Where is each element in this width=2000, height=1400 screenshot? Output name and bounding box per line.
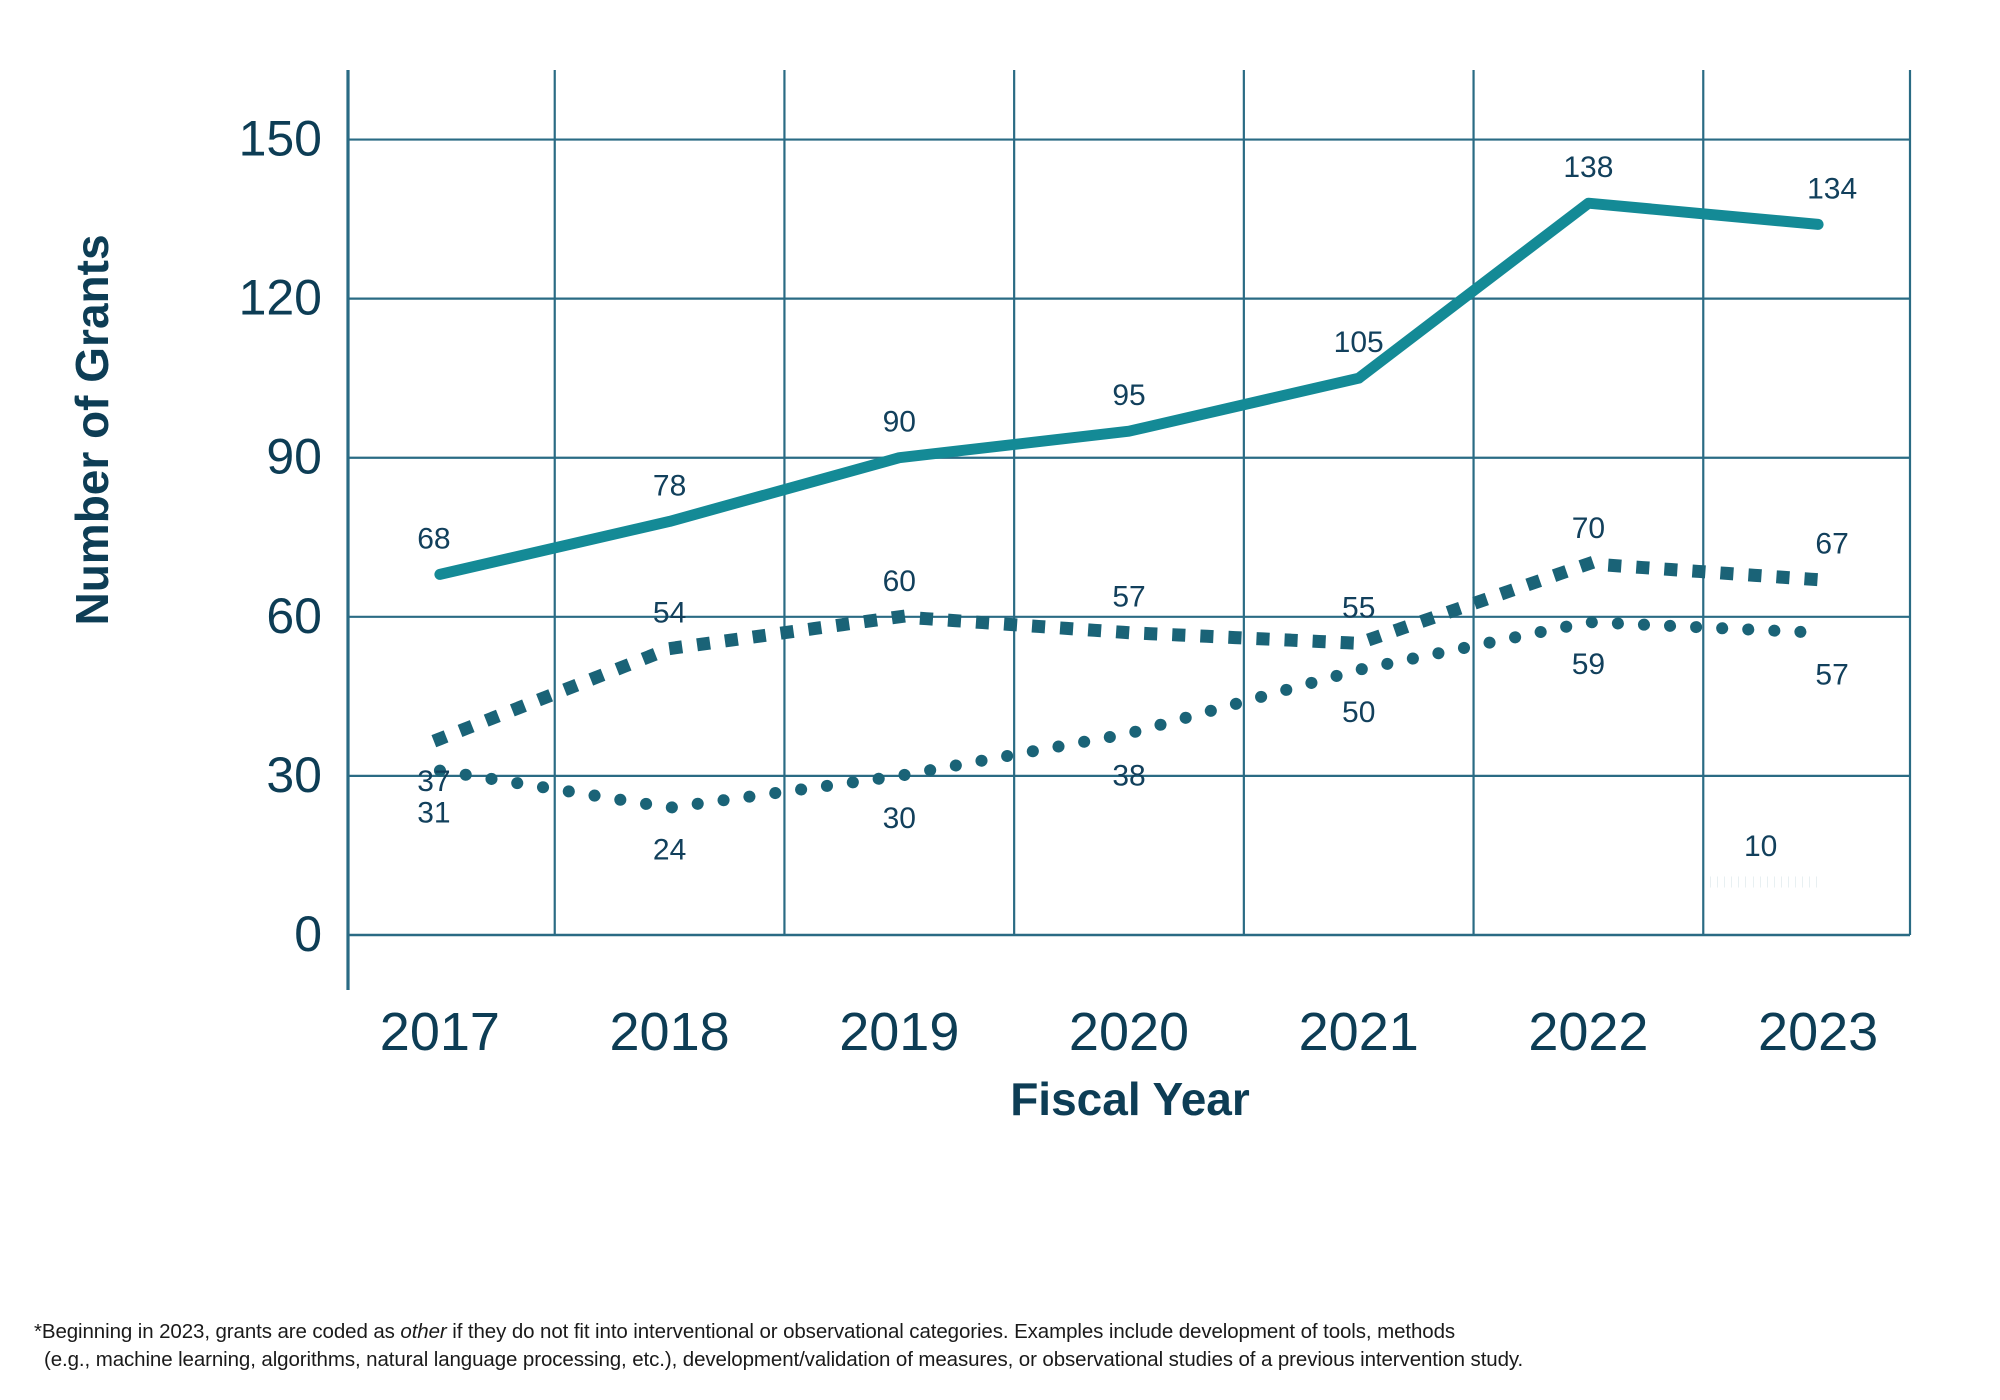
footnote-emphasis: other [400, 1320, 446, 1343]
value-label: 38 [1112, 759, 1145, 792]
plot-container: Number of Grants Fiscal Year 03060901201… [0, 0, 2000, 1190]
footnote-text-a: *Beginning in 2023, grants are coded as [34, 1320, 400, 1343]
x-tick-label: 2020 [1069, 1002, 1189, 1062]
value-label: 31 [417, 797, 450, 830]
footnote: *Beginning in 2023, grants are coded as … [34, 1318, 1974, 1373]
value-label: 138 [1563, 151, 1613, 184]
y-tick-label: 30 [266, 747, 322, 803]
x-axis-ticks: 2017201820192020202120222023 [380, 1002, 1878, 1062]
chart-figure: Number of Grants Fiscal Year 03060901201… [0, 0, 2000, 1400]
grants-line-chart: Number of Grants Fiscal Year 03060901201… [0, 0, 2000, 1190]
footnote-line-2: (e.g., machine learning, algorithms, nat… [34, 1346, 1523, 1374]
footnote-text-b: if they do not fit into interventional o… [447, 1320, 1455, 1343]
value-label: 60 [883, 565, 916, 598]
y-tick-label: 150 [239, 111, 322, 167]
footnote-line-1: *Beginning in 2023, grants are coded as … [34, 1320, 1455, 1343]
value-label: 57 [1112, 581, 1145, 614]
y-axis-ticks: 0306090120150 [239, 111, 322, 962]
x-tick-label: 2022 [1528, 1002, 1648, 1062]
value-label: 59 [1572, 648, 1605, 681]
value-label: 134 [1807, 172, 1857, 205]
value-label: 105 [1334, 326, 1384, 359]
x-tick-label: 2018 [610, 1002, 730, 1062]
y-tick-label: 120 [239, 270, 322, 326]
x-tick-label: 2017 [380, 1002, 500, 1062]
data-value-labels: 3754605755706731243038505957687890951051… [417, 151, 1857, 867]
value-label: 67 [1815, 528, 1848, 561]
value-label: 24 [653, 834, 686, 867]
value-label: 55 [1342, 591, 1375, 624]
value-label: 37 [417, 765, 450, 798]
value-label: 57 [1815, 659, 1848, 692]
y-tick-label: 60 [266, 588, 322, 644]
value-label: 54 [653, 597, 686, 630]
x-tick-label: 2021 [1299, 1002, 1419, 1062]
x-axis-title: Fiscal Year [1010, 1073, 1250, 1125]
value-label: 90 [883, 406, 916, 439]
value-label: 95 [1112, 379, 1145, 412]
value-label: 70 [1572, 512, 1605, 545]
y-tick-label: 0 [294, 906, 322, 962]
x-tick-label: 2019 [839, 1002, 959, 1062]
value-label: 30 [883, 802, 916, 835]
value-label: 68 [417, 522, 450, 555]
value-label: 50 [1342, 696, 1375, 729]
value-label: 10 [1744, 830, 1777, 863]
value-label: 78 [653, 469, 686, 502]
x-tick-label: 2023 [1758, 1002, 1878, 1062]
y-tick-label: 90 [266, 429, 322, 485]
y-axis-title: Number of Grants [66, 234, 118, 625]
